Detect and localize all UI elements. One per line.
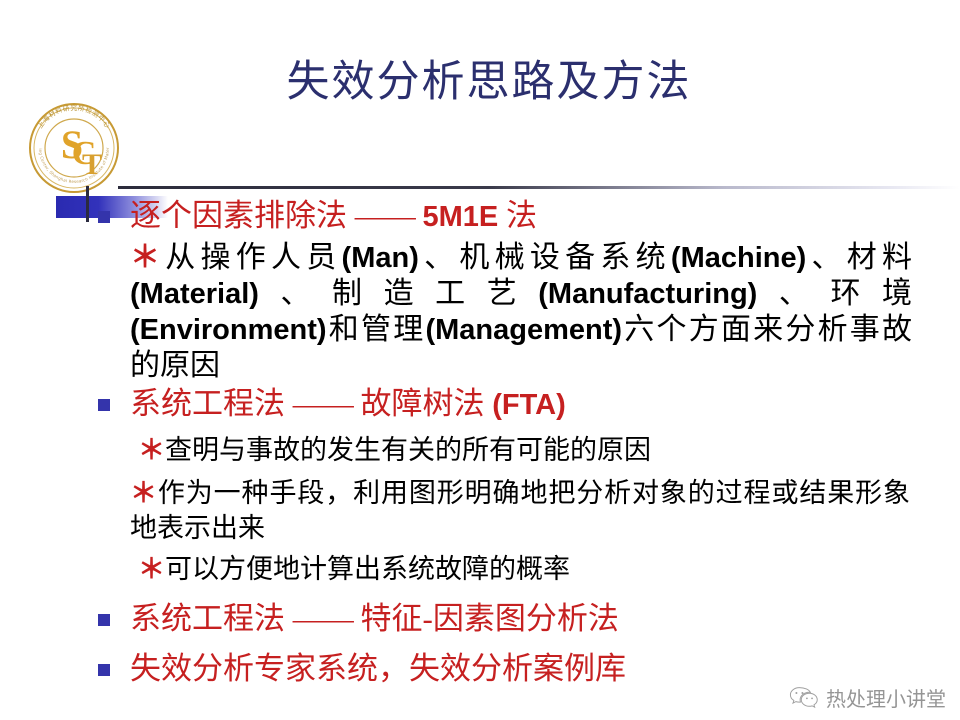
sub-item-3-text: 可以方便地计算出系统故障的概率 bbox=[165, 554, 570, 584]
sub-item-1: ＊查明与事故的发生有关的所有可能的原因 bbox=[0, 433, 960, 468]
asterisk-marker: ＊ bbox=[130, 241, 165, 274]
bullet-1-dash: —— bbox=[355, 198, 415, 233]
bullet-item-3: 系统工程法 —— 特征-因素图分析法 bbox=[0, 599, 960, 639]
bullet-1-keyword: 5M1E bbox=[423, 201, 499, 233]
body-en-man: (Man) bbox=[342, 242, 419, 274]
body-seg-6: 和管理 bbox=[327, 313, 426, 346]
body-seg-3: 、材料 bbox=[806, 241, 912, 274]
sub-item-2: ＊作为一种手段，利用图形明确地把分析对象的过程或结果形象地表示出来 bbox=[0, 476, 960, 546]
sub-item-1-text: 查明与事故的发生有关的所有可能的原因 bbox=[165, 435, 651, 465]
body-en-material: (Material) bbox=[130, 278, 259, 310]
body-seg-5: 、环境 bbox=[757, 277, 912, 310]
body-en-management: (Management) bbox=[425, 314, 622, 346]
page-title: 失效分析思路及方法 bbox=[0, 56, 960, 110]
watermark: 热处理小讲堂 bbox=[789, 683, 946, 712]
bullet-item-2: 系统工程法 —— 故障树法 (FTA) bbox=[0, 384, 960, 425]
slide-canvas: 上海材料研究所检测中心 Testing Center, Shanghai Res… bbox=[0, 0, 960, 720]
body-en-machine: (Machine) bbox=[671, 242, 806, 274]
bullet-item-1: 逐个因素排除法 —— 5M1E 法 bbox=[0, 196, 960, 237]
body-en-environment: (Environment) bbox=[130, 314, 327, 346]
title-divider bbox=[118, 186, 960, 189]
body-en-manufacturing: (Manufacturing) bbox=[538, 278, 757, 310]
bullet-4-text-before: 失效分析专家系统，失效分析案例库 bbox=[130, 651, 626, 686]
bullet-2-text-before: 系统工程法 bbox=[130, 386, 285, 421]
body-seg-2: 、机械设备系统 bbox=[419, 241, 671, 274]
bullet-1-text-after: 法 bbox=[506, 198, 537, 233]
bullet-3-dash: —— bbox=[293, 601, 353, 636]
body-paragraph-5m1e: ＊从操作人员(Man)、机械设备系统(Machine)、材料(Material)… bbox=[0, 240, 960, 384]
bullet-1-text-before: 逐个因素排除法 bbox=[130, 198, 347, 233]
wechat-icon bbox=[789, 685, 819, 711]
svg-text:T: T bbox=[82, 148, 102, 181]
watermark-label: 热处理小讲堂 bbox=[826, 683, 946, 712]
sct-seal-logo: 上海材料研究所检测中心 Testing Center, Shanghai Res… bbox=[22, 96, 126, 200]
bullet-square-icon bbox=[98, 211, 110, 223]
bullet-2-keyword: (FTA) bbox=[492, 389, 566, 421]
body-seg-4: 、制造工艺 bbox=[259, 277, 538, 310]
bullet-square-icon bbox=[98, 664, 110, 676]
bullet-2-text-mid: 故障树法 bbox=[361, 386, 485, 421]
bullet-3-text-before: 系统工程法 bbox=[130, 601, 285, 636]
body-seg-1: 从操作人员 bbox=[165, 241, 341, 274]
sub-item-2-text: 作为一种手段，利用图形明确地把分析对象的过程或结果形象地表示出来 bbox=[130, 478, 910, 543]
asterisk-marker: ＊ bbox=[138, 554, 165, 584]
bullet-square-icon bbox=[98, 614, 110, 626]
bullet-2-dash: —— bbox=[293, 386, 353, 421]
asterisk-marker: ＊ bbox=[138, 435, 165, 465]
asterisk-marker: ＊ bbox=[130, 478, 158, 508]
slide-content: 逐个因素排除法 —— 5M1E 法 ＊从操作人员(Man)、机械设备系统(Mac… bbox=[0, 196, 960, 689]
bullet-3-text-after: 特征-因素图分析法 bbox=[361, 601, 619, 636]
sub-item-3: ＊可以方便地计算出系统故障的概率 bbox=[0, 552, 960, 587]
bullet-square-icon bbox=[98, 399, 110, 411]
